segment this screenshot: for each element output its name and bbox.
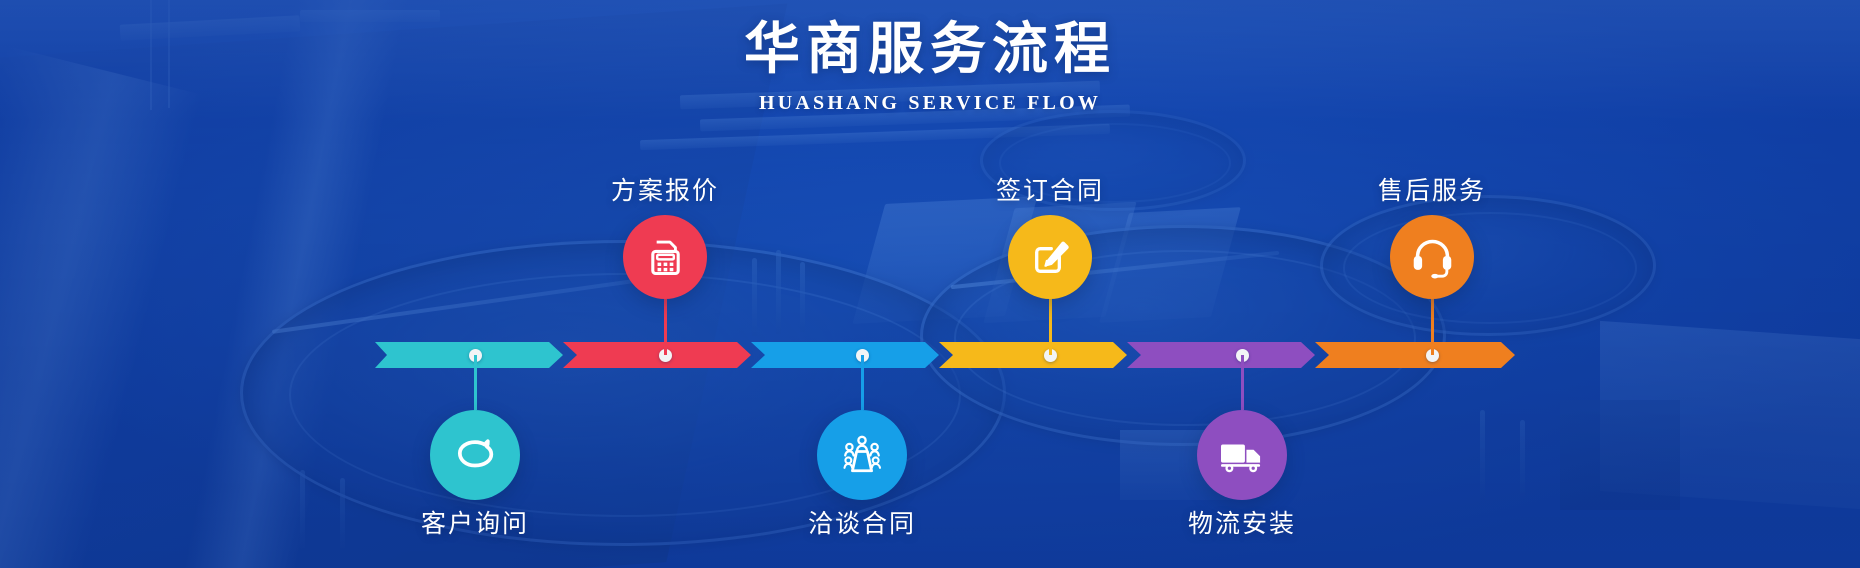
flow-step-icon-button-3[interactable] <box>817 410 907 500</box>
flow-arrow-segment-6[interactable] <box>1315 342 1515 368</box>
flow-connector-line-2 <box>664 299 667 355</box>
flow-connector-line-1 <box>474 355 477 410</box>
flow-step-label-1: 客户询问 <box>421 504 529 540</box>
flow-arrow-segment-4[interactable] <box>939 342 1127 368</box>
flow-step-label-6: 售后服务 <box>1378 171 1486 207</box>
flow-connector-line-5 <box>1241 355 1244 410</box>
edit-pencil-square-icon <box>1024 231 1077 284</box>
flow-step-label-3: 洽谈合同 <box>808 504 916 540</box>
flow-arrow-segment-5[interactable] <box>1127 342 1315 368</box>
service-flow-banner: 华商服务流程 HUASHANG SERVICE FLOW 客户询问 方案报价 <box>0 0 1860 568</box>
flow-step-icon-button-4[interactable] <box>1008 215 1092 299</box>
flow-step-icon-button-5[interactable] <box>1197 410 1287 500</box>
flow-arrow-segment-3[interactable] <box>751 342 939 368</box>
delivery-truck-icon <box>1214 427 1270 483</box>
flow-connector-line-6 <box>1431 299 1434 355</box>
flow-connector-line-3 <box>861 355 864 410</box>
flow-step-icon-button-6[interactable] <box>1390 215 1474 299</box>
meeting-table-icon <box>834 427 890 483</box>
flow-arrow-chain <box>375 342 1515 368</box>
flow-connector-line-4 <box>1049 299 1052 355</box>
flow-step-label-2: 方案报价 <box>611 171 719 207</box>
chat-bubble-icon <box>447 427 503 483</box>
banner-heading: 华商服务流程 HUASHANG SERVICE FLOW <box>0 0 1860 115</box>
flow-step-label-5: 物流安装 <box>1188 504 1296 540</box>
flow-step-label-4: 签订合同 <box>996 171 1104 207</box>
flow-step-icon-button-1[interactable] <box>430 410 520 500</box>
page-subtitle: HUASHANG SERVICE FLOW <box>0 92 1860 115</box>
flow-arrow-segment-2[interactable] <box>563 342 751 368</box>
flow-step-icon-button-2[interactable] <box>623 215 707 299</box>
calculator-receipt-icon <box>639 231 692 284</box>
page-title: 华商服务流程 <box>0 0 1860 84</box>
headset-support-icon <box>1406 231 1459 284</box>
